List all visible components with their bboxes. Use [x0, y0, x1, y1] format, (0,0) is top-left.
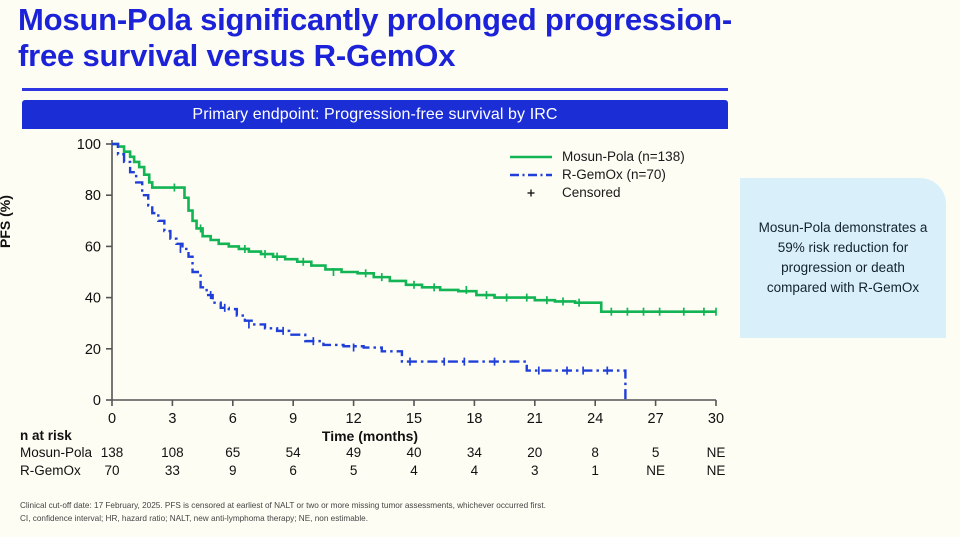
y-axis-tick-label: 40 [85, 291, 101, 307]
risk-value: 20 [518, 444, 552, 462]
x-axis-tick-label: 30 [708, 411, 724, 427]
x-axis-tick-label: 0 [108, 411, 116, 427]
risk-value: 40 [397, 444, 431, 462]
risk-value: 49 [337, 444, 371, 462]
risk-value: 5 [337, 462, 371, 480]
risk-value: 1 [578, 462, 612, 480]
x-axis-tick-label: 27 [648, 411, 664, 427]
risk-value: 9 [216, 462, 250, 480]
risk-row-label: Mosun-Pola [20, 444, 92, 462]
risk-value: 65 [216, 444, 250, 462]
legend-item-rgemox: R-GemOx (n=70) [508, 166, 685, 184]
risk-value: NE [639, 462, 673, 480]
title-divider [22, 88, 728, 91]
risk-value: 70 [95, 462, 129, 480]
y-axis-tick-label: 60 [85, 239, 101, 255]
table-row: R-GemOx 70339654431NENE [18, 462, 732, 480]
legend-label-rgemox: R-GemOx (n=70) [562, 165, 666, 184]
x-axis-tick-label: 18 [466, 411, 482, 427]
risk-value: NE [699, 444, 733, 462]
risk-value: 54 [276, 444, 310, 462]
x-axis-tick-label: 24 [587, 411, 603, 427]
endpoint-banner-label: Primary endpoint: Progression-free survi… [192, 106, 557, 124]
risk-value: 8 [578, 444, 612, 462]
footnote-line-2: CI, confidence interval; HR, hazard rati… [20, 513, 740, 526]
risk-value: 4 [457, 462, 491, 480]
n-at-risk-table: n at risk Mosun-Pola 1381086554494034208… [18, 428, 732, 480]
x-axis-tick-label: 15 [406, 411, 422, 427]
risk-value: NE [699, 462, 733, 480]
y-axis-title: PFS (%) [0, 195, 13, 248]
risk-value: 34 [457, 444, 491, 462]
plus-mark-icon [508, 188, 554, 198]
legend-item-censored: Censored [508, 184, 685, 202]
dash-dot-line-icon [508, 170, 554, 180]
x-axis-tick-label: 6 [229, 411, 237, 427]
solid-line-icon [508, 152, 554, 162]
legend-label-mosun-pola: Mosun-Pola (n=138) [562, 147, 685, 166]
chart-legend: Mosun-Pola (n=138) R-GemOx (n=70) Censor… [508, 148, 685, 202]
x-axis-tick-label: 9 [289, 411, 297, 427]
x-axis-tick-label: 3 [168, 411, 176, 427]
risk-value: 5 [639, 444, 673, 462]
x-axis-tick-label: 12 [346, 411, 362, 427]
risk-value: 6 [276, 462, 310, 480]
footnotes: Clinical cut-off date: 17 February, 2025… [20, 500, 740, 525]
y-axis-tick-label: 0 [93, 393, 101, 409]
n-at-risk-title: n at risk [18, 428, 732, 443]
endpoint-banner: Primary endpoint: Progression-free survi… [22, 100, 728, 129]
y-axis-tick-label: 20 [85, 342, 101, 358]
key-message-callout: Mosun-Pola demonstrates a 59% risk reduc… [740, 178, 946, 338]
footnote-line-1: Clinical cut-off date: 17 February, 2025… [20, 500, 740, 513]
risk-value: 138 [95, 444, 129, 462]
y-axis-tick-label: 80 [85, 188, 101, 204]
legend-label-censored: Censored [562, 183, 621, 202]
x-axis-tick-label: 21 [527, 411, 543, 427]
page-title: Mosun-Pola significantly prolonged progr… [18, 2, 738, 74]
risk-row-label: R-GemOx [20, 462, 81, 480]
table-row: Mosun-Pola 13810865544940342085NE [18, 444, 732, 462]
y-axis-tick-label: 100 [77, 137, 101, 153]
risk-value: 3 [518, 462, 552, 480]
legend-item-mosun-pola: Mosun-Pola (n=138) [508, 148, 685, 166]
risk-value: 4 [397, 462, 431, 480]
key-message-text: Mosun-Pola demonstrates a 59% risk reduc… [750, 218, 936, 298]
risk-value: 33 [155, 462, 189, 480]
risk-value: 108 [155, 444, 189, 462]
